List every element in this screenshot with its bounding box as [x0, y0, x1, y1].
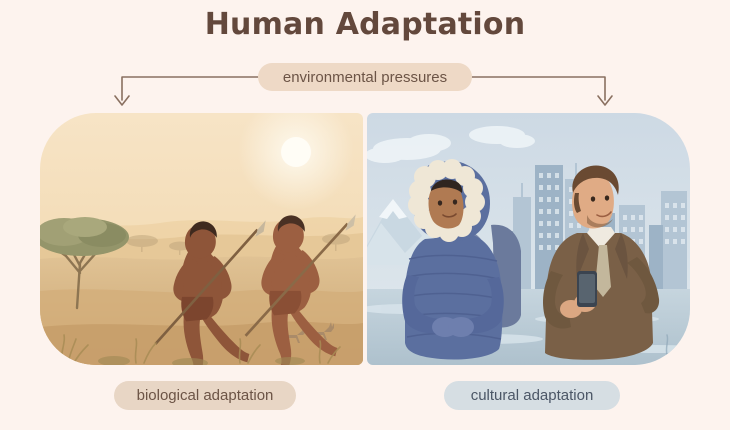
infographic-canvas: Human Adaptation environmental pressures — [0, 0, 730, 430]
arrow-down-right — [598, 96, 612, 105]
page-title: Human Adaptation — [0, 7, 730, 42]
environmental-pressures-label: environmental pressures — [258, 63, 472, 91]
panel-cultural-adaptation[interactable] — [367, 113, 690, 365]
panel-row — [40, 113, 690, 365]
smartphone — [577, 271, 597, 307]
connector-line-left — [122, 77, 258, 100]
cold-city-scene — [367, 113, 690, 365]
caption-biological-adaptation: biological adaptation — [114, 381, 296, 410]
caption-cultural-text: cultural adaptation — [471, 387, 594, 404]
gloves — [432, 317, 474, 337]
sun-icon — [281, 137, 311, 167]
environmental-pressures-text: environmental pressures — [283, 69, 447, 86]
caption-cultural-adaptation: cultural adaptation — [444, 381, 620, 410]
savanna-scene — [40, 113, 363, 365]
panel-biological-adaptation[interactable] — [40, 113, 363, 365]
caption-biological-text: biological adaptation — [137, 387, 274, 404]
arrow-down-left — [115, 96, 129, 105]
connector-line-right — [472, 77, 605, 100]
